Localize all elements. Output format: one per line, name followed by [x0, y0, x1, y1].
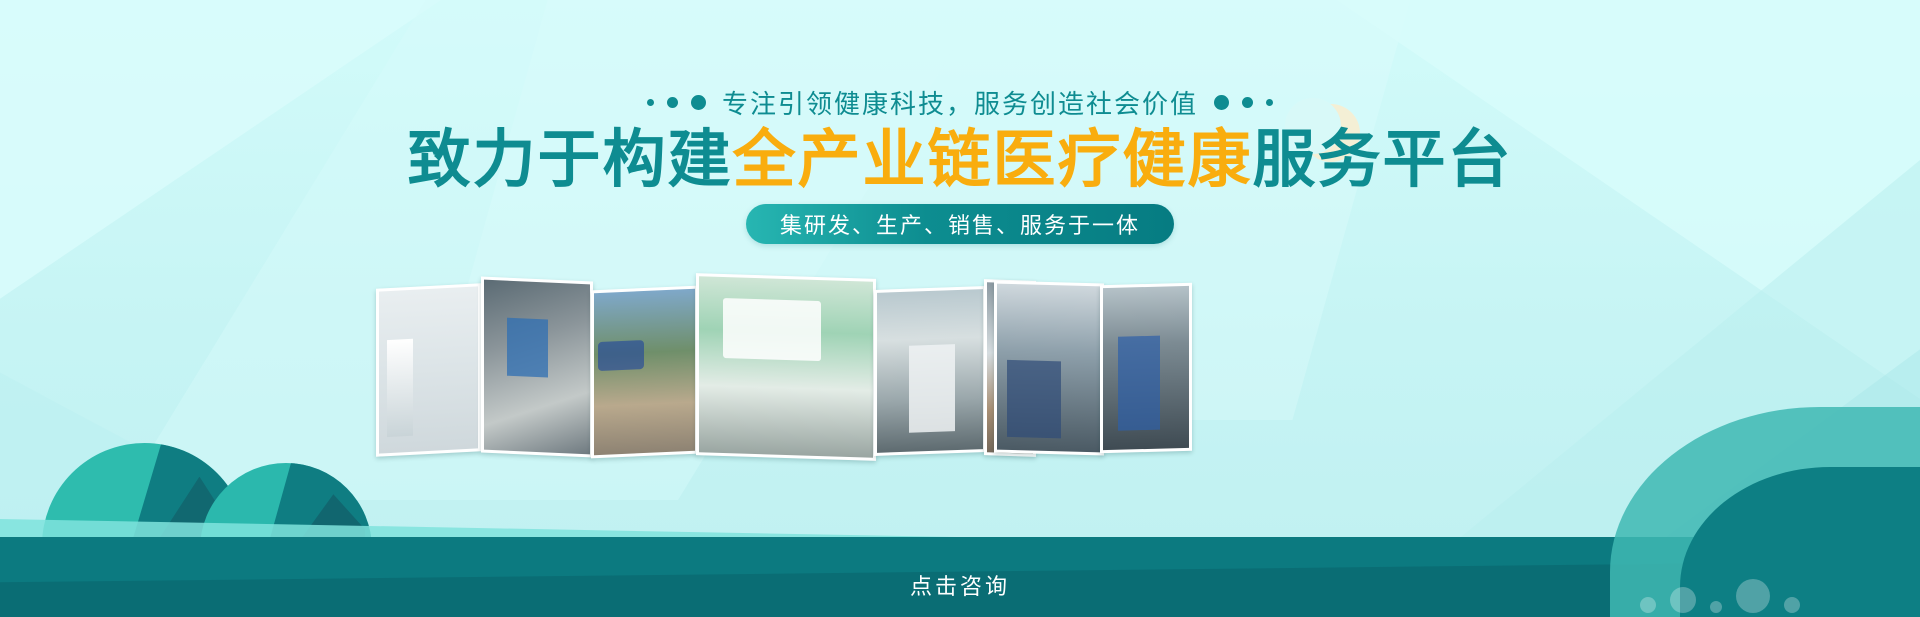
subtitle-pill-wrap: 集研发、生产、销售、服务于一体 — [0, 204, 1920, 244]
photo-medical-staff-checkup — [874, 286, 986, 456]
photo-strip — [376, 278, 1196, 463]
promo-banner: 专注引领健康科技，服务创造社会价值 致力于构建全产业链医疗健康服务平台 集研发、… — [0, 0, 1920, 617]
photo-outdoor-health-event — [591, 286, 698, 459]
subtitle-pill: 集研发、生产、销售、服务于一体 — [746, 204, 1174, 244]
tagline-text: 专注引领健康科技，服务创造社会价值 — [722, 84, 1198, 121]
headline-part-highlight: 全产业链医疗健康 — [733, 125, 1253, 195]
consult-button[interactable]: 点击咨询 — [888, 561, 1032, 609]
photo-health-kiosk-screen — [481, 277, 593, 458]
medium-dot-icon — [1242, 97, 1253, 108]
bubble-group — [1640, 579, 1800, 613]
bubble-icon — [1736, 579, 1770, 613]
large-dot-icon — [691, 95, 706, 110]
headline-part-three: 服务平台 — [1253, 125, 1513, 195]
large-dot-icon — [1214, 95, 1229, 110]
bubble-icon — [1640, 597, 1656, 613]
tagline-dots-left — [647, 95, 706, 110]
bubble-icon — [1710, 601, 1722, 613]
photo-laboratory-equipment — [376, 283, 481, 457]
small-dot-icon — [1266, 99, 1273, 106]
headline: 致力于构建全产业链医疗健康服务平台 — [0, 126, 1920, 195]
photo-operator-at-console — [994, 281, 1104, 456]
tagline-row: 专注引领健康科技，服务创造社会价值 — [0, 84, 1920, 121]
bubble-icon — [1670, 587, 1696, 613]
photo-production-line — [1100, 283, 1192, 453]
small-dot-icon — [647, 99, 654, 106]
medium-dot-icon — [667, 97, 678, 108]
photo-community-health-station — [696, 273, 876, 461]
headline-part-one: 致力于构建 — [408, 125, 733, 195]
tagline-dots-right — [1214, 95, 1273, 110]
bubble-icon — [1784, 597, 1800, 613]
